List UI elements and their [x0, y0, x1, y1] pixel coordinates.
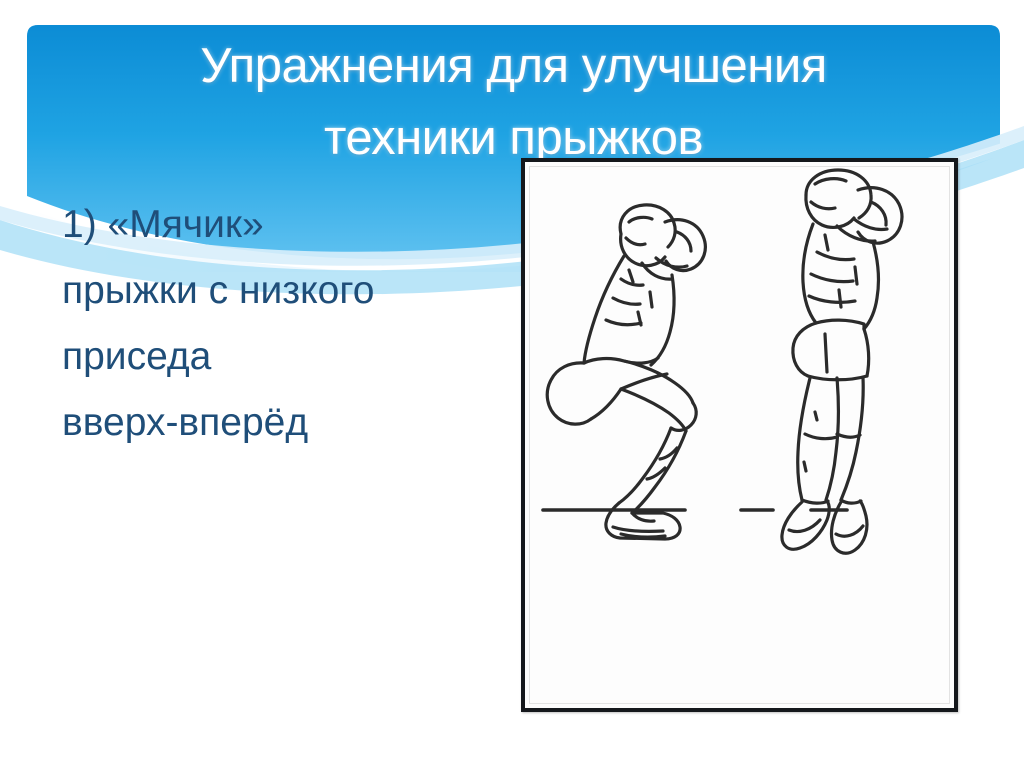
slide-body-text: 1) «Мячик» прыжки с низкого приседа ввер…	[62, 192, 502, 456]
squatting-figure	[547, 205, 705, 539]
exercise-illustration-frame	[521, 158, 958, 712]
body-line-4: вверх-вперёд	[62, 390, 502, 456]
presentation-slide: Упражнения для улучшения техники прыжков…	[0, 0, 1024, 768]
exercise-figures-drawing	[525, 162, 954, 708]
body-line-1: 1) «Мячик»	[62, 192, 502, 258]
slide-title: Упражнения для улучшения техники прыжков	[27, 30, 1000, 174]
jumping-figure	[782, 170, 902, 553]
title-line-1: Упражнения для улучшения	[27, 30, 1000, 102]
body-line-2: прыжки с низкого	[62, 258, 502, 324]
body-line-3: приседа	[62, 324, 502, 390]
